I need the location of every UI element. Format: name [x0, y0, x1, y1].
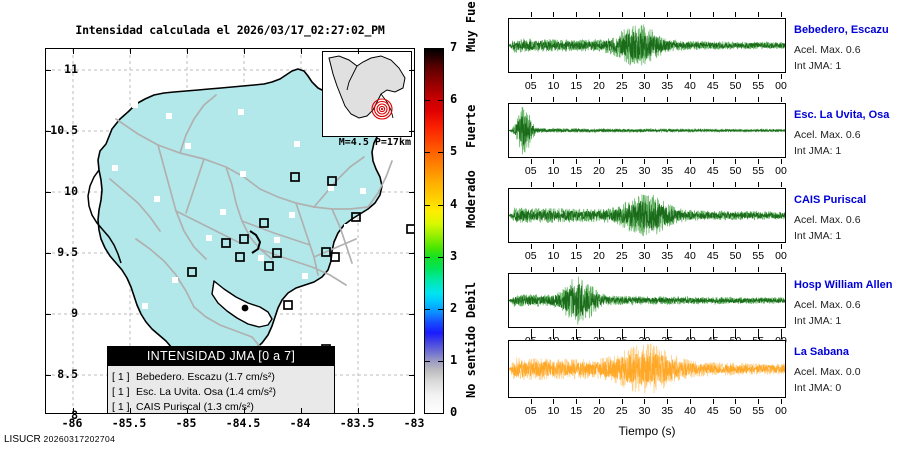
map-panel: Intensidad calculada el 2026/03/17_02:27… [0, 0, 500, 460]
lat-tick-label: 9 [32, 306, 78, 320]
x-axis-tick [599, 12, 600, 17]
x-axis-tick-label: 35 [656, 250, 678, 262]
x-axis-tick [758, 74, 759, 79]
x-axis-tick [667, 267, 668, 272]
x-axis-tick [576, 12, 577, 17]
x-axis-tick [576, 267, 577, 272]
x-axis-tick [713, 244, 714, 249]
station-jma: Int JMA: 1 [794, 145, 841, 157]
x-axis-tick [576, 334, 577, 339]
x-axis-tick [531, 182, 532, 187]
x-axis-tick-label: 50 [724, 405, 746, 417]
colorbar-value: 3 [450, 249, 457, 263]
x-axis-tick-label: 10 [542, 165, 564, 177]
x-axis-tick [576, 182, 577, 187]
x-axis-tick [758, 182, 759, 187]
x-axis-tick-label: 00 [770, 405, 792, 417]
x-axis-tick [644, 334, 645, 339]
lon-tick-label: -86 [44, 416, 100, 430]
x-axis-tick [531, 12, 532, 17]
legend-text: Bebedero. Escazu (1.7 cm/s²) [136, 371, 275, 383]
x-axis-tick-label: 10 [542, 80, 564, 92]
x-axis-tick [599, 399, 600, 404]
colorbar-value: 4 [450, 197, 457, 211]
x-axis-tick [622, 334, 623, 339]
x-axis-tick [690, 244, 691, 249]
x-axis-tick-label: 40 [679, 405, 701, 417]
x-axis-tick [531, 74, 532, 79]
station-jma: Int JMA: 1 [794, 230, 841, 242]
lon-tick-label: -85 [158, 416, 214, 430]
x-axis-tick [553, 159, 554, 164]
page-title: Intensidad calculada el 2026/03/17_02:27… [0, 23, 460, 37]
x-axis-tick-label: 55 [747, 405, 769, 417]
x-axis-tick-label: 30 [633, 165, 655, 177]
intensity-colorbar: 7 6 5 4 3 2 1 0 Muy Fuerte Fuerte Modera… [424, 48, 494, 414]
x-axis-tick [644, 74, 645, 79]
x-axis-tick-label: 05 [520, 165, 542, 177]
x-axis-tick [644, 399, 645, 404]
x-axis-tick [667, 12, 668, 17]
station-accel: Acel. Max. 0.6 [794, 44, 861, 56]
x-axis-tick-label: 55 [747, 80, 769, 92]
x-axis-tick [781, 244, 782, 249]
x-axis-tick [781, 182, 782, 187]
station-jma: Int JMA: 1 [794, 60, 841, 72]
lat-tick-label: 11 [32, 62, 78, 76]
lon-tick-label: -84 [272, 416, 328, 430]
x-axis-tick [713, 97, 714, 102]
x-axis-tick-label: 25 [611, 165, 633, 177]
x-axis-tick [781, 97, 782, 102]
x-axis-tick [553, 334, 554, 339]
x-axis-tick-label: 05 [520, 80, 542, 92]
lon-tick-label: -84.5 [215, 416, 271, 430]
x-axis-tick [599, 182, 600, 187]
x-axis-tick [622, 244, 623, 249]
legend-header: INTENSIDAD JMA [0 a 7] [108, 347, 334, 366]
x-axis-tick-label: 15 [565, 165, 587, 177]
x-axis-tick [553, 12, 554, 17]
x-axis-tick [531, 97, 532, 102]
x-axis-tick-label: 40 [679, 250, 701, 262]
x-axis-tick [622, 182, 623, 187]
x-axis-tick-label: 50 [724, 250, 746, 262]
legend-list: [ 1 ]Bebedero. Escazu (1.7 cm/s²) [ 1 ]E… [108, 366, 334, 414]
x-axis-tick-label: 20 [588, 165, 610, 177]
list-item: [ 1 ]Bebedero. Escazu (1.7 cm/s²) [112, 370, 334, 385]
x-axis-tick [781, 399, 782, 404]
colorbar-category: Debil [464, 282, 478, 318]
x-axis-tick-label: 35 [656, 405, 678, 417]
x-axis-tick [531, 334, 532, 339]
x-axis-tick [690, 334, 691, 339]
x-axis-label: Tiempo (s) [508, 424, 786, 438]
x-axis-tick [781, 334, 782, 339]
x-axis-tick [644, 182, 645, 187]
legend-count: [ 1 ] [112, 400, 136, 414]
x-axis-tick [667, 399, 668, 404]
x-axis-tick [667, 97, 668, 102]
x-axis-tick [553, 74, 554, 79]
x-axis-tick [735, 182, 736, 187]
seismogram-trace-3[interactable] [508, 188, 786, 243]
lon-tick-label: -83.5 [329, 416, 385, 430]
x-axis-tick [531, 267, 532, 272]
x-axis-tick [553, 399, 554, 404]
x-axis-tick-label: 30 [633, 405, 655, 417]
x-axis-tick [735, 244, 736, 249]
x-axis-tick [553, 267, 554, 272]
inset-location-map [322, 51, 412, 137]
x-axis-tick-label: 00 [770, 165, 792, 177]
x-axis-tick-label: 35 [656, 165, 678, 177]
x-axis-tick-label: 15 [565, 80, 587, 92]
x-axis-tick [553, 244, 554, 249]
x-axis-tick [599, 267, 600, 272]
x-axis-tick [735, 12, 736, 17]
colorbar-value: 1 [450, 353, 457, 367]
x-axis-tick [690, 74, 691, 79]
x-axis-tick-label: 45 [702, 405, 724, 417]
x-axis-tick [758, 12, 759, 17]
x-axis-tick-label: 05 [520, 405, 542, 417]
x-axis-tick [622, 97, 623, 102]
x-axis-tick [713, 399, 714, 404]
station-accel: Acel. Max. 0.0 [794, 366, 861, 378]
x-axis-tick [713, 334, 714, 339]
x-axis-tick [531, 244, 532, 249]
x-axis-tick [622, 74, 623, 79]
x-axis-tick [622, 267, 623, 272]
x-axis-tick [576, 159, 577, 164]
x-axis-tick [735, 399, 736, 404]
x-axis-tick [735, 97, 736, 102]
x-axis-tick [758, 97, 759, 102]
footer-credit: LISUCR 20260317202704 [4, 434, 115, 445]
x-axis-tick [758, 334, 759, 339]
lon-tick-label: -83 [386, 416, 442, 430]
x-axis-tick [667, 244, 668, 249]
station-name[interactable]: La Sabana [794, 346, 849, 358]
colorbar-category: Muy Fuerte [464, 0, 478, 52]
legend-count: [ 1 ] [112, 385, 136, 400]
x-axis-tick [781, 159, 782, 164]
colorbar-value: 5 [450, 144, 457, 158]
x-axis-tick [713, 159, 714, 164]
colorbar-gradient [424, 48, 444, 414]
colorbar-value: 0 [450, 405, 457, 419]
seismogram-trace-1[interactable] [508, 18, 786, 73]
colorbar-category: Moderado [464, 170, 478, 228]
x-axis-tick [531, 399, 532, 404]
x-axis-tick-label: 45 [702, 165, 724, 177]
x-axis-tick-label: 35 [656, 80, 678, 92]
x-axis-tick [531, 159, 532, 164]
station-name[interactable]: Bebedero, Escazu [794, 24, 889, 36]
station-name[interactable]: Esc. La Uvita, Osa [794, 109, 889, 121]
station-jma: Int JMA: 0 [794, 382, 841, 394]
x-axis-tick [713, 74, 714, 79]
x-axis-tick [713, 182, 714, 187]
x-axis-tick [644, 159, 645, 164]
x-axis-tick-label: 30 [633, 80, 655, 92]
x-axis-tick [690, 267, 691, 272]
x-axis-tick [690, 12, 691, 17]
x-axis-tick-label: 20 [588, 80, 610, 92]
lat-tick-label: 10.5 [32, 123, 78, 137]
x-axis-tick [690, 97, 691, 102]
x-axis-tick [576, 97, 577, 102]
gulf-island [242, 305, 249, 312]
x-axis-tick [644, 12, 645, 17]
x-axis-tick-label: 50 [724, 80, 746, 92]
x-axis-tick-label: 15 [565, 250, 587, 262]
lat-tick-label: 8.5 [32, 367, 78, 381]
x-axis-tick-label: 40 [679, 165, 701, 177]
footer-code: 20260317202704 [43, 434, 115, 444]
x-axis-tick [599, 74, 600, 79]
seismogram-row: 051015202530354045505500CAIS PuriscalAce… [500, 188, 910, 271]
x-axis-tick [667, 159, 668, 164]
x-axis-tick [735, 334, 736, 339]
x-axis-tick [758, 159, 759, 164]
colorbar-value: 6 [450, 92, 457, 106]
station-name[interactable]: CAIS Puriscal [794, 194, 866, 206]
x-axis-tick-label: 55 [747, 165, 769, 177]
seismogram-trace-4[interactable] [508, 273, 786, 328]
x-axis-tick-label: 20 [588, 250, 610, 262]
legend-text: CAIS Puriscal (1.3 cm/s²) [136, 401, 254, 413]
legend-text: Esc. La Uvita. Osa (1.4 cm/s²) [136, 386, 276, 398]
station-jma: Int JMA: 1 [794, 315, 841, 327]
x-axis-tick-label: 10 [542, 250, 564, 262]
x-axis-tick-label: 20 [588, 405, 610, 417]
x-axis-tick [599, 159, 600, 164]
colorbar-category: No sentido [464, 326, 478, 398]
x-axis-tick [576, 244, 577, 249]
seismogram-trace-2[interactable] [508, 103, 786, 158]
station-accel: Acel. Max. 0.6 [794, 214, 861, 226]
intensity-legend: INTENSIDAD JMA [0 a 7] [ 1 ]Bebedero. Es… [107, 346, 335, 414]
x-axis-tick-label: 25 [611, 250, 633, 262]
x-axis-tick [622, 12, 623, 17]
x-axis-tick [690, 399, 691, 404]
x-axis-tick [758, 267, 759, 272]
x-axis-tick [667, 182, 668, 187]
x-axis-tick [781, 267, 782, 272]
seismogram-row: 051015202530354045505500La SabanaAcel. M… [500, 340, 910, 426]
x-axis-tick-label: 30 [633, 250, 655, 262]
seismogram-trace-5[interactable] [508, 340, 786, 398]
intensity-map[interactable]: M=4.5 P=17km INTENSIDAD JMA [0 a 7] [ 1 … [45, 48, 415, 414]
x-axis-tick-label: 55 [747, 250, 769, 262]
x-axis-tick [599, 244, 600, 249]
footer-agency: LISUCR [4, 434, 41, 445]
x-axis-tick [576, 74, 577, 79]
x-axis-tick [667, 74, 668, 79]
x-axis-tick-label: 25 [611, 405, 633, 417]
x-axis-tick [599, 334, 600, 339]
station-accel: Acel. Max. 0.6 [794, 129, 861, 141]
x-axis-tick [644, 97, 645, 102]
x-axis-tick [667, 334, 668, 339]
station-accel: Acel. Max. 0.6 [794, 299, 861, 311]
lon-tick-label: -85.5 [101, 416, 157, 430]
list-item: [ 1 ]Esc. La Uvita. Osa (1.4 cm/s²) [112, 385, 334, 400]
station-name[interactable]: Hosp William Allen [794, 279, 893, 291]
legend-count: [ 1 ] [112, 370, 136, 385]
x-axis-tick [713, 267, 714, 272]
x-axis-tick [644, 267, 645, 272]
x-axis-tick [599, 97, 600, 102]
x-axis-tick-label: 50 [724, 165, 746, 177]
x-axis-tick [781, 12, 782, 17]
colorbar-category: Fuerte [464, 105, 478, 148]
x-axis-tick-label: 05 [520, 250, 542, 262]
x-axis-tick-label: 15 [565, 405, 587, 417]
x-axis-tick [690, 182, 691, 187]
x-axis-tick [622, 399, 623, 404]
x-axis-tick [622, 159, 623, 164]
seismogram-row: 051015202530354045505500Esc. La Uvita, O… [500, 103, 910, 186]
x-axis-tick-label: 10 [542, 405, 564, 417]
lat-tick-label: 9.5 [32, 245, 78, 259]
x-axis-tick [713, 12, 714, 17]
x-axis-tick-label: 00 [770, 250, 792, 262]
x-axis-tick [735, 267, 736, 272]
x-axis-tick [644, 244, 645, 249]
x-axis-tick [758, 244, 759, 249]
x-axis-tick [735, 74, 736, 79]
x-axis-tick-label: 25 [611, 80, 633, 92]
x-axis-tick [576, 399, 577, 404]
x-axis-tick-label: 45 [702, 80, 724, 92]
x-axis-tick [781, 74, 782, 79]
seismogram-panel: 051015202530354045505500Bebedero, Escazu… [500, 0, 910, 460]
seismogram-row: 051015202530354045505500Bebedero, Escazu… [500, 18, 910, 101]
x-axis-tick-label: 40 [679, 80, 701, 92]
magnitude-depth-label: M=4.5 P=17km [339, 137, 411, 148]
x-axis-tick [553, 182, 554, 187]
x-axis-tick [690, 159, 691, 164]
x-axis-tick-label: 00 [770, 80, 792, 92]
x-axis-tick [758, 399, 759, 404]
lat-tick-label: 10 [32, 184, 78, 198]
x-axis-tick-label: 45 [702, 250, 724, 262]
colorbar-value: 7 [450, 40, 457, 54]
x-axis-tick [553, 97, 554, 102]
x-axis-tick [735, 159, 736, 164]
colorbar-value: 2 [450, 301, 457, 315]
